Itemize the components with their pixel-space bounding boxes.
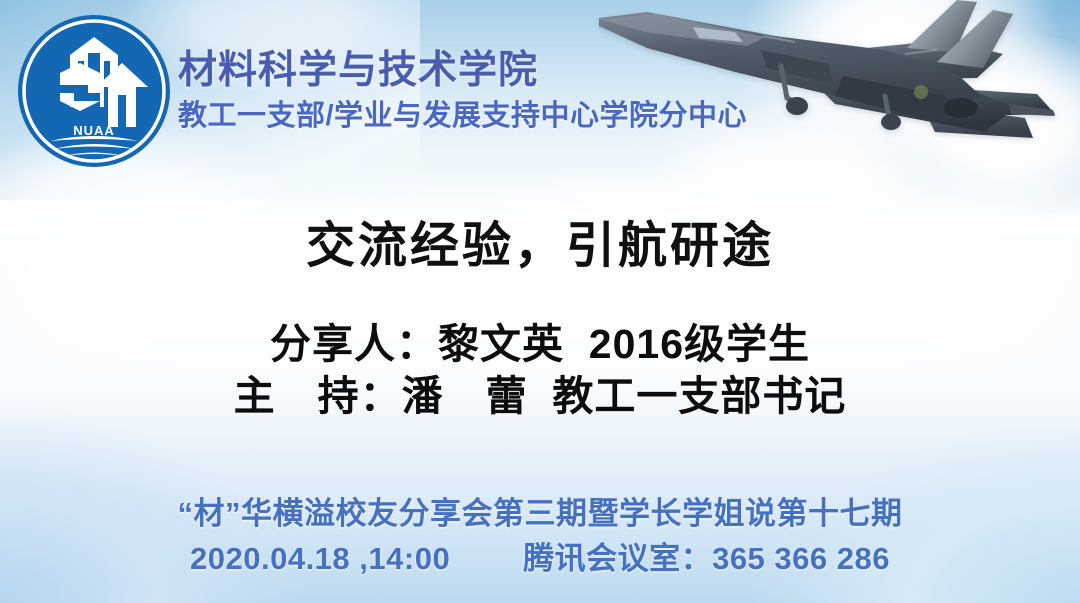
college-emblem-logo: NUAA (14, 11, 174, 171)
footer-block: “材”华横溢校友分享会第三期暨学长学姐说第十七期 2020.04.18 ,14:… (0, 494, 1080, 578)
poster-canvas: NUAA 材料科学与技术学院 教工一支部/学业与发展支持中心学院分中心 交流经验… (0, 0, 1080, 603)
org-title: 材料科学与技术学院 (178, 50, 878, 92)
presenter-block: 分享人：黎文英 2016级学生 主 持：潘 蕾 教工一支部书记 (0, 318, 1080, 423)
presenter-line-host: 主 持：潘 蕾 教工一支部书记 (0, 370, 1080, 422)
event-datetime-meeting-line: 2020.04.18 ,14:00 腾讯会议室：365 366 286 (0, 539, 1080, 578)
presenter-line-speaker: 分享人：黎文英 2016级学生 (0, 318, 1080, 370)
organization-header: 材料科学与技术学院 教工一支部/学业与发展支持中心学院分中心 (178, 50, 878, 133)
event-title-line: “材”华横溢校友分享会第三期暨学长学姐说第十七期 (0, 494, 1080, 533)
main-title: 交流经验，引航研途 (0, 206, 1080, 277)
svg-text:NUAA: NUAA (73, 123, 115, 138)
org-subtitle: 教工一支部/学业与发展支持中心学院分中心 (178, 100, 878, 133)
